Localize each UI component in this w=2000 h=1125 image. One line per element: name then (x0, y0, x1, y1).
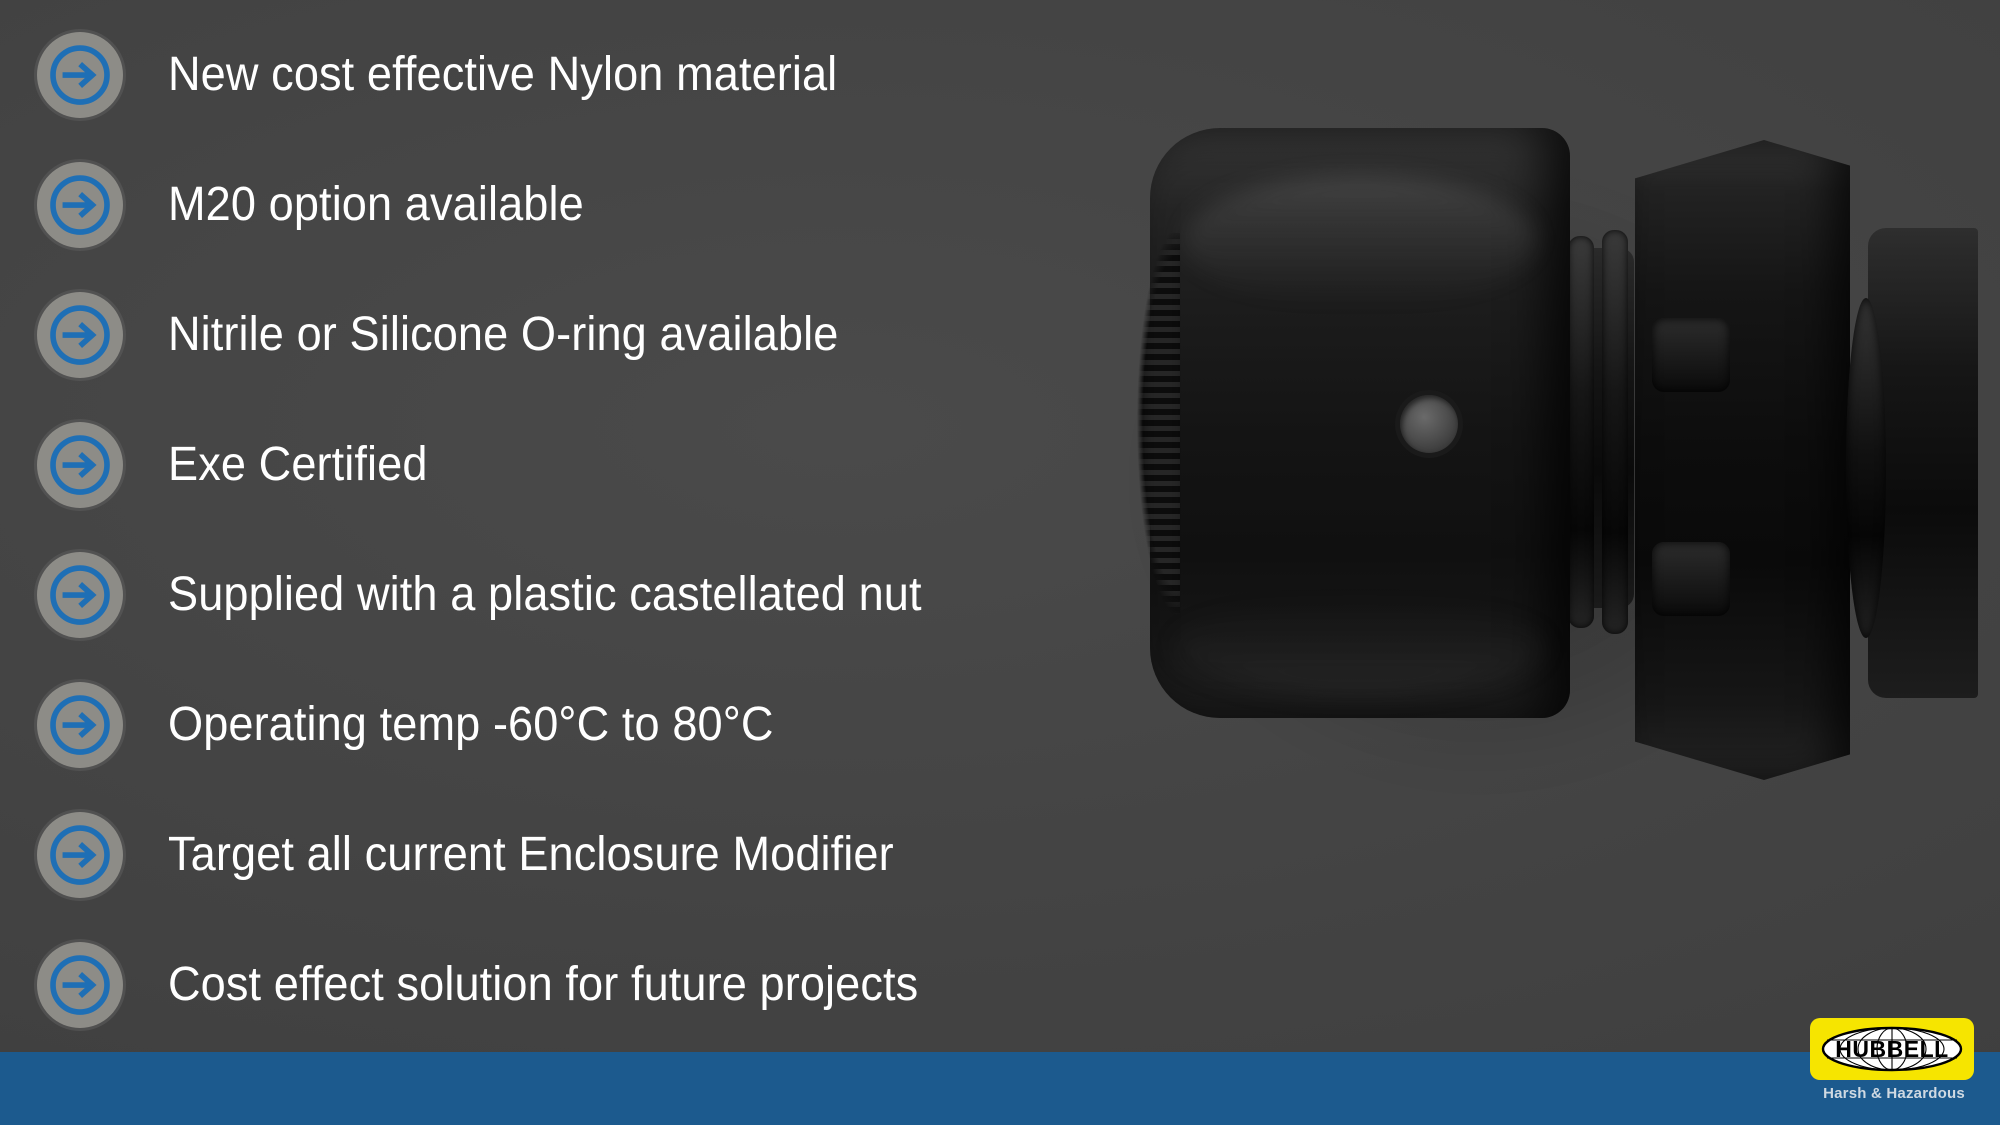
globe-icon: HUBBELL (1818, 1024, 1966, 1074)
list-item[interactable]: Operating temp -60°C to 80°C (0, 666, 1120, 784)
list-item[interactable]: M20 option available (0, 146, 1120, 264)
list-item[interactable]: Target all current Enclosure Modifier (0, 796, 1120, 914)
list-item[interactable]: Nitrile or Silicone O-ring available (0, 276, 1120, 394)
hubbell-logo: HUBBELL Harsh & Hazardous (1810, 1018, 1978, 1123)
list-item-label: Cost effect solution for future projects (168, 960, 1063, 1010)
list-item-label: Target all current Enclosure Modifier (168, 830, 1063, 880)
circle-arrow-right-icon (24, 19, 136, 131)
list-item[interactable]: Cost effect solution for future projects (0, 926, 1120, 1044)
circle-arrow-right-icon (24, 539, 136, 651)
product-dome-body (1150, 128, 1570, 718)
slide: New cost effective Nylon material M20 op… (0, 0, 2000, 1125)
list-item-label: New cost effective Nylon material (168, 50, 1063, 100)
list-item-label: Operating temp -60°C to 80°C (168, 700, 1063, 750)
list-item-label: Supplied with a plastic castellated nut (168, 570, 1063, 620)
product-ring-a (1568, 236, 1594, 628)
list-item[interactable]: New cost effective Nylon material (0, 16, 1120, 134)
circle-arrow-right-icon (24, 799, 136, 911)
list-item[interactable]: Supplied with a plastic castellated nut (0, 536, 1120, 654)
product-ring-b (1602, 230, 1628, 634)
product-knurled-edge (1134, 162, 1180, 682)
product-o-ring (1846, 298, 1886, 638)
list-item-label: Exe Certified (168, 440, 1063, 490)
circle-arrow-right-icon (24, 409, 136, 521)
circle-arrow-right-icon (24, 929, 136, 1041)
footer-bar (0, 1052, 2000, 1125)
product-castellation-top (1652, 318, 1730, 392)
logo-tagline: Harsh & Hazardous (1810, 1085, 1978, 1102)
logo-badge: HUBBELL (1810, 1018, 1974, 1080)
list-item-label: M20 option available (168, 180, 1063, 230)
product-castellated-nut (1635, 140, 1850, 780)
list-item[interactable]: Exe Certified (0, 406, 1120, 524)
feature-bullet-list: New cost effective Nylon material M20 op… (0, 0, 1120, 1052)
list-item-label: Nitrile or Silicone O-ring available (168, 310, 1063, 360)
circle-arrow-right-icon (24, 279, 136, 391)
product-castellation-bottom (1652, 542, 1730, 616)
logo-brand-text: HUBBELL (1835, 1036, 1948, 1062)
circle-arrow-right-icon (24, 149, 136, 261)
circle-arrow-right-icon (24, 669, 136, 781)
product-image (1090, 110, 1970, 850)
product-breather-hole (1400, 395, 1458, 453)
